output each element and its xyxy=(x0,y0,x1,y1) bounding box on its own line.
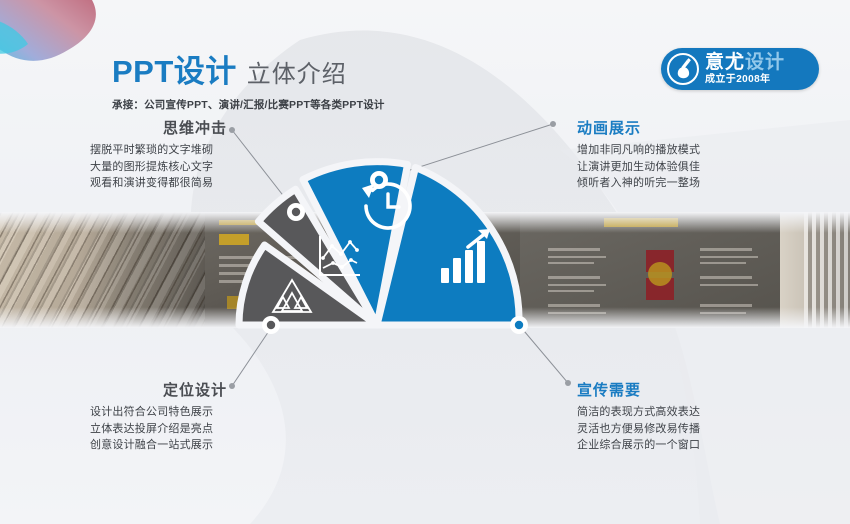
block-title-siwei: 思维冲击 xyxy=(84,120,312,138)
text-block-xuanchuan: 宣传需要 简洁的表现方式高效表达 灵活也方便易修改易传播 企业综合展示的一个窗口 xyxy=(577,382,807,454)
block-line: 简洁的表现方式高效表达 xyxy=(577,406,700,418)
block-line: 灵活也方便易修改易传播 xyxy=(577,423,700,435)
connector-node-dingwei[interactable] xyxy=(262,316,280,334)
block-line: 企业综合展示的一个窗口 xyxy=(577,439,700,451)
block-body-siwei: 摆脱平时繁琐的文字堆砌 大量的图形提炼核心文字 观看和演讲变得都很简易 xyxy=(84,142,312,192)
text-block-siwei: 思维冲击 摆脱平时繁琐的文字堆砌 大量的图形提炼核心文字 观看和演讲变得都很简易 xyxy=(84,120,312,192)
connector-node-donghua[interactable] xyxy=(370,171,388,189)
text-block-dingwei: 定位设计 设计出符合公司特色展示 立体表达投屏介绍是亮点 创意设计融合一站式展示 xyxy=(84,382,312,454)
block-line: 立体表达投屏介绍是亮点 xyxy=(90,423,213,435)
block-line: 观看和演讲变得都很简易 xyxy=(90,177,213,189)
text-block-donghua: 动画展示 增加非同凡响的播放模式 让演讲更加生动体验俱佳 倾听者入神的听完一整场 xyxy=(577,120,807,192)
block-line: 大量的图形提炼核心文字 xyxy=(90,161,213,173)
block-line: 设计出符合公司特色展示 xyxy=(90,406,213,418)
block-title-xuanchuan: 宣传需要 xyxy=(577,382,807,400)
block-body-dingwei: 设计出符合公司特色展示 立体表达投屏介绍是亮点 创意设计融合一站式展示 xyxy=(84,404,312,454)
block-line: 让演讲更加生动体验俱佳 xyxy=(577,161,700,173)
block-title-dingwei: 定位设计 xyxy=(84,382,312,400)
block-line: 倾听者入神的听完一整场 xyxy=(577,177,700,189)
block-body-donghua: 增加非同凡响的播放模式 让演讲更加生动体验俱佳 倾听者入神的听完一整场 xyxy=(577,142,807,192)
block-line: 摆脱平时繁琐的文字堆砌 xyxy=(90,144,213,156)
block-line: 增加非同凡响的播放模式 xyxy=(577,144,700,156)
connector-node-siwei[interactable] xyxy=(287,203,305,221)
block-body-xuanchuan: 简洁的表现方式高效表达 灵活也方便易修改易传播 企业综合展示的一个窗口 xyxy=(577,404,807,454)
connector-node-xuanchuan[interactable] xyxy=(510,316,528,334)
block-line: 创意设计融合一站式展示 xyxy=(90,439,213,451)
slide-canvas: PPT设计立体介绍 承接：公司宣传PPT、演讲/汇报/比赛PPT等各类PPT设计… xyxy=(0,0,850,524)
block-title-donghua: 动画展示 xyxy=(577,120,807,138)
